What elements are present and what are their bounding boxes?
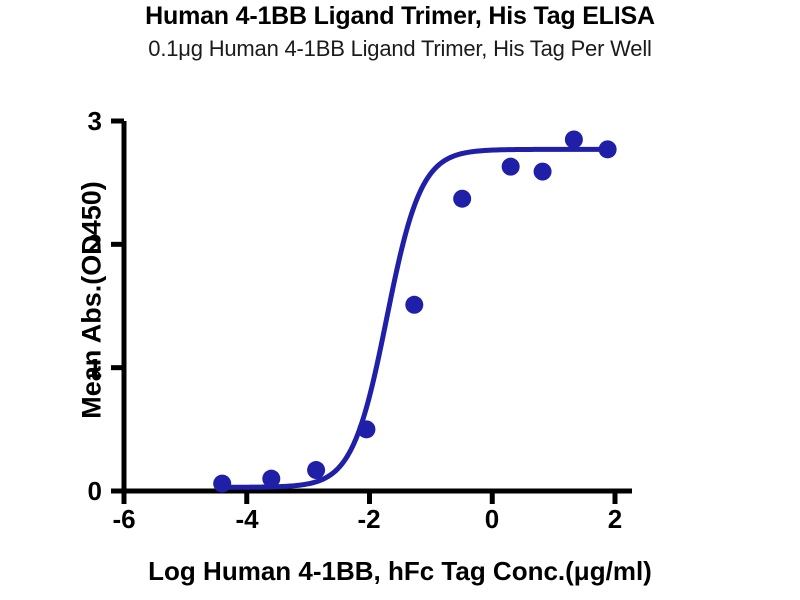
data-point [453, 190, 471, 208]
data-point [405, 296, 423, 314]
data-point [565, 131, 583, 149]
data-point [357, 420, 375, 438]
data-point-markers [213, 131, 616, 493]
data-point [599, 140, 617, 158]
data-point [534, 163, 552, 181]
data-point [307, 461, 325, 479]
plot-canvas [0, 0, 800, 600]
data-point [502, 158, 520, 176]
data-point [262, 470, 280, 488]
data-point [213, 475, 231, 493]
elisa-chart-figure: Human 4-1BB Ligand Trimer, His Tag ELISA… [0, 0, 800, 600]
fit-curve [222, 149, 607, 487]
